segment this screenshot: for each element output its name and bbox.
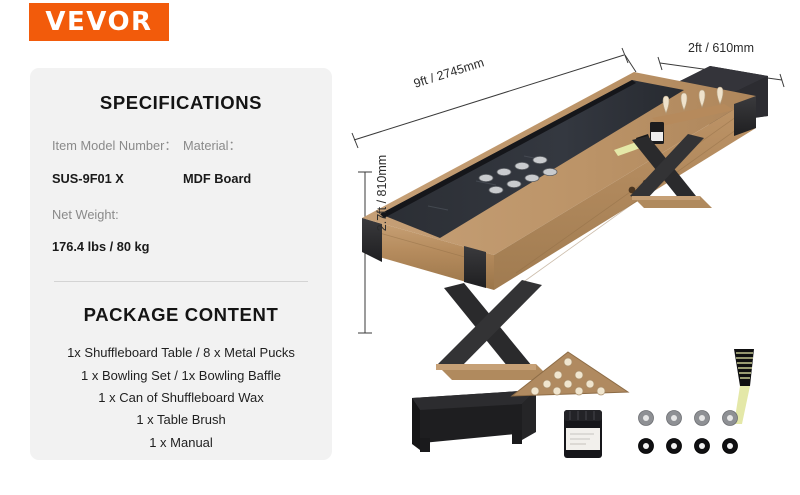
list-item: 1 x Manual [52, 432, 310, 454]
net-weight-value: 176.4 lbs / 80 kg [52, 228, 179, 257]
corner-bracket [464, 246, 486, 288]
item-model-number-value: SUS-9F01 X [52, 160, 179, 189]
shuffleboard-table-drawing [336, 0, 800, 495]
accessory-wax-can [564, 410, 602, 458]
specifications-grid: Item Model Number： Material： SUS-9F01 X … [52, 136, 310, 189]
list-item: 1 x Can of Shuffleboard Wax [52, 387, 310, 409]
product-spec-page: VEVOR SPECIFICATIONS Item Model Number： … [0, 0, 800, 495]
wax-can-on-table [650, 122, 664, 144]
net-weight-label: Net Weight: [52, 205, 179, 225]
dimension-label-width: 2ft / 610mm [688, 41, 754, 55]
product-illustration: 9ft / 2745mm 2ft / 610mm 2.7ft / 810mm [336, 0, 800, 495]
dimension-label-height: 2.7ft / 810mm [375, 133, 389, 253]
info-panel: SPECIFICATIONS Item Model Number： Materi… [30, 68, 332, 460]
package-content-list: 1x Shuffleboard Table / 8 x Metal Pucks … [52, 342, 310, 454]
item-model-number-label: Item Model Number： [52, 136, 179, 156]
accessory-table-brush [734, 349, 754, 424]
accessory-metal-pucks [639, 411, 738, 454]
material-value: MDF Board [183, 160, 310, 189]
specifications-heading: SPECIFICATIONS [52, 92, 310, 114]
list-item: 1x Shuffleboard Table / 8 x Metal Pucks [52, 342, 310, 364]
table-leg-front [436, 280, 552, 380]
net-weight-group: Net Weight: 176.4 lbs / 80 kg [52, 205, 310, 258]
list-item: 1 x Table Brush [52, 409, 310, 431]
list-item: 1 x Bowling Set / 1x Bowling Baffle [52, 365, 310, 387]
material-label: Material： [183, 136, 310, 156]
section-divider [54, 281, 308, 282]
vevor-logo: VEVOR [29, 3, 169, 41]
package-content-heading: PACKAGE CONTENT [52, 304, 310, 326]
accessory-bowling-baffle [412, 390, 536, 452]
brand-name: VEVOR [45, 9, 152, 35]
